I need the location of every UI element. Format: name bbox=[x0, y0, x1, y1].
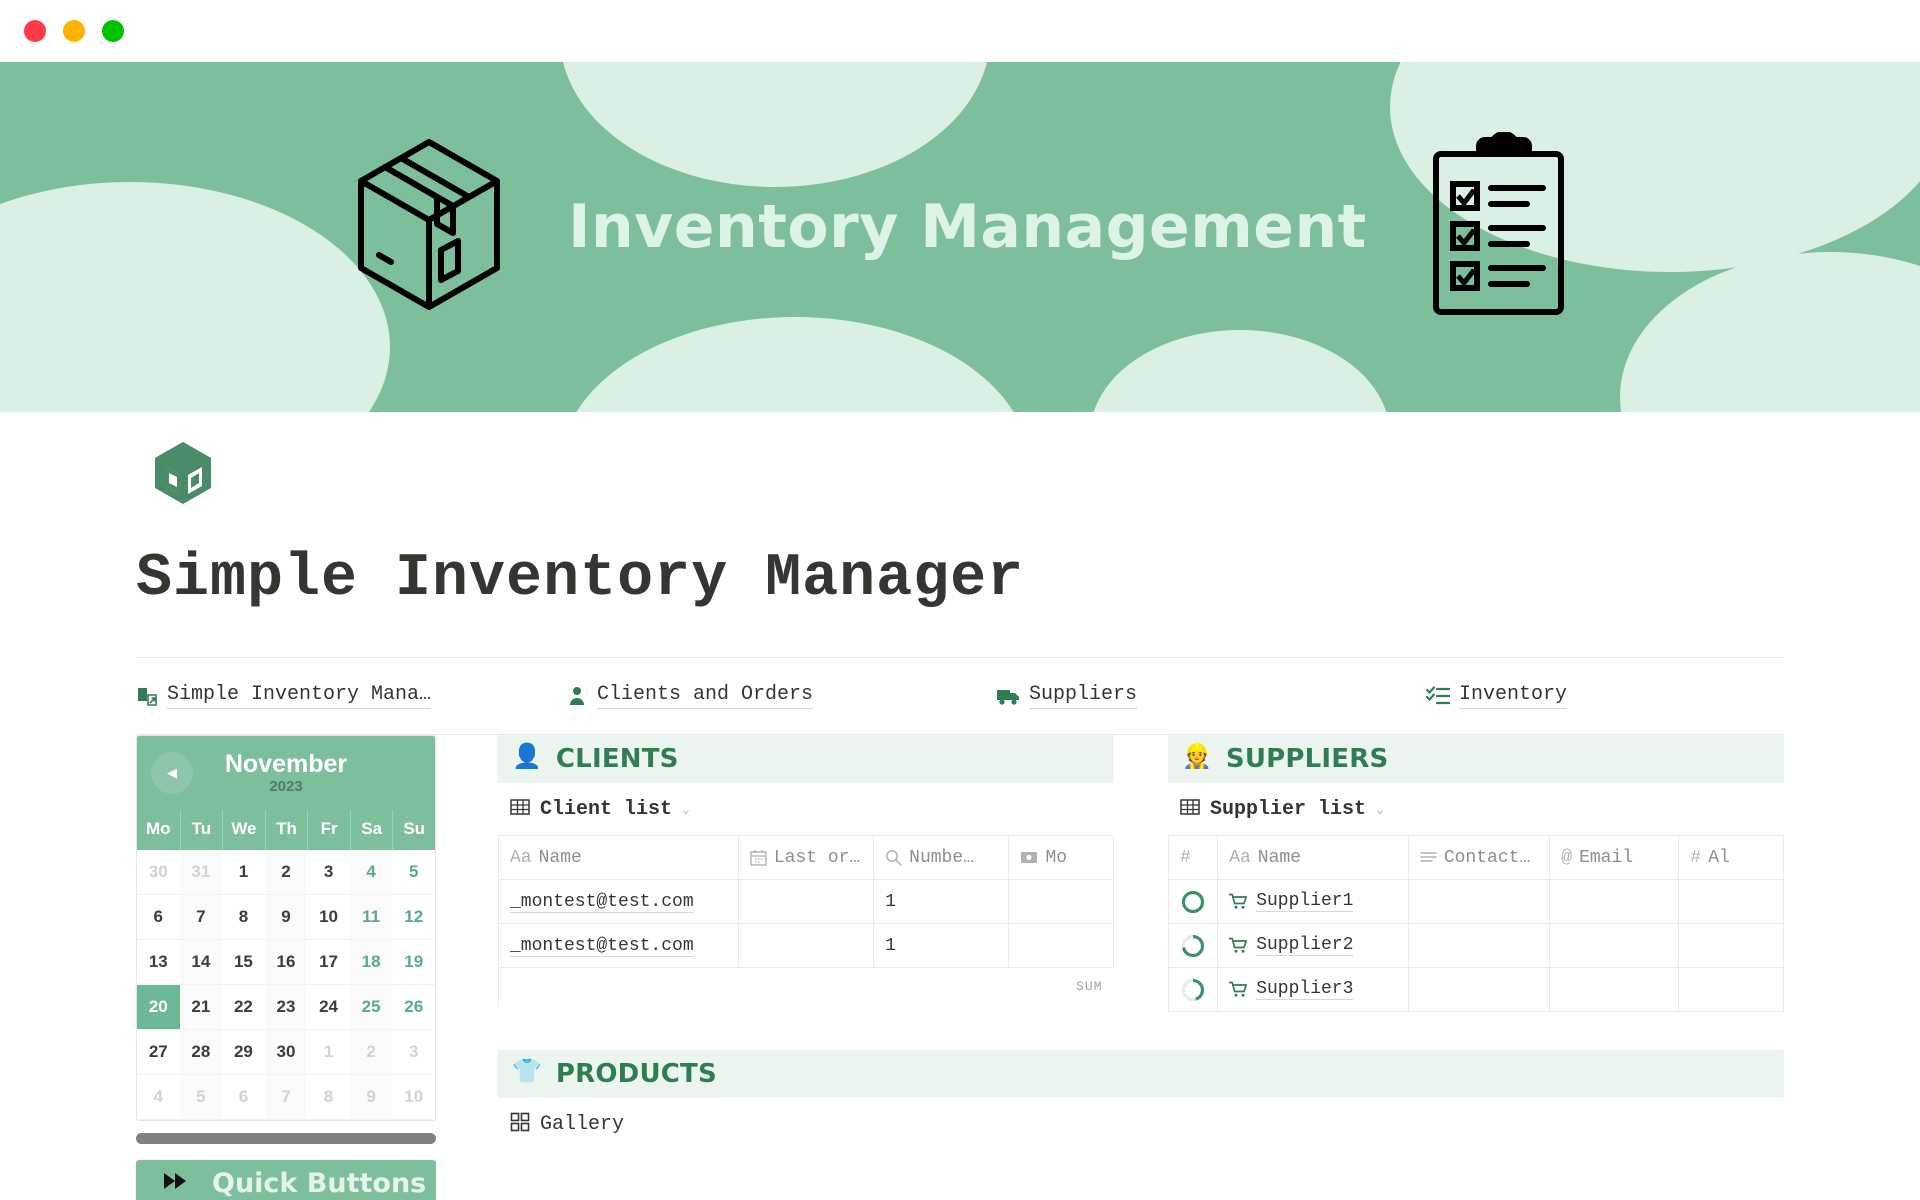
gallery-grid-icon bbox=[510, 1112, 530, 1137]
calendar-day[interactable]: 6 bbox=[137, 895, 180, 940]
calendar-weekday: Mo bbox=[137, 810, 180, 850]
window-minimize-button[interactable] bbox=[63, 20, 85, 42]
calendar-day[interactable]: 29 bbox=[222, 1030, 265, 1075]
calendar-day[interactable]: 26 bbox=[392, 985, 435, 1030]
window-maximize-button[interactable] bbox=[102, 20, 124, 42]
calendar-weekday: Tu bbox=[180, 810, 223, 850]
supplier-progress-cell[interactable] bbox=[1169, 968, 1218, 1012]
calendar-day-today[interactable]: 20 bbox=[137, 985, 180, 1030]
table-row[interactable]: Supplier1 bbox=[1169, 880, 1784, 924]
supplier-al-cell[interactable] bbox=[1679, 968, 1784, 1012]
calendar-day[interactable]: 15 bbox=[222, 940, 265, 985]
fast-forward-icon bbox=[162, 1170, 192, 1197]
client-last-order-cell[interactable] bbox=[738, 924, 873, 968]
suppliers-col-contact[interactable]: Contact… bbox=[1408, 836, 1549, 880]
supplier-contact-cell[interactable] bbox=[1408, 880, 1549, 924]
calendar-day[interactable]: 3 bbox=[392, 1030, 435, 1075]
supplier-name-cell[interactable]: Supplier3 bbox=[1218, 968, 1409, 1012]
clipboard-checklist-icon bbox=[1431, 132, 1566, 322]
chevron-down-icon[interactable]: ⌄ bbox=[1376, 802, 1384, 817]
shopping-cart-icon bbox=[1229, 893, 1248, 910]
table-view-icon bbox=[1180, 797, 1200, 822]
calendar-day[interactable]: 24 bbox=[307, 985, 350, 1030]
suppliers-heading: SUPPLIERS bbox=[1226, 744, 1389, 774]
calendar-day[interactable]: 8 bbox=[222, 895, 265, 940]
suppliers-col-name[interactable]: Aa Name bbox=[1218, 836, 1409, 880]
calendar-icon bbox=[750, 849, 767, 866]
calendar-weekday: Sa bbox=[350, 810, 393, 850]
supplier-email-cell[interactable] bbox=[1550, 968, 1679, 1012]
calendar-weekday: We bbox=[222, 810, 265, 850]
calendar-day[interactable]: 4 bbox=[137, 1075, 180, 1120]
worker-emoji-icon: 👷 bbox=[1182, 747, 1212, 771]
package-box-icon bbox=[354, 137, 504, 317]
aa-text-icon: Aa bbox=[510, 848, 532, 868]
page-link-icon bbox=[136, 685, 158, 707]
calendar-day[interactable]: 19 bbox=[392, 940, 435, 985]
suppliers-col-email[interactable]: @ Email bbox=[1550, 836, 1679, 880]
supplier-al-cell[interactable] bbox=[1679, 880, 1784, 924]
calendar-day[interactable]: 14 bbox=[180, 940, 223, 985]
page-cover-banner: Inventory Management bbox=[0, 62, 1920, 412]
calendar-day[interactable]: 18 bbox=[350, 940, 393, 985]
calendar-day[interactable]: 11 bbox=[350, 895, 393, 940]
tab-label: Inventory bbox=[1459, 683, 1567, 709]
supplier-email-cell[interactable] bbox=[1550, 924, 1679, 968]
table-row[interactable]: Supplier3 bbox=[1169, 968, 1784, 1012]
hash-icon: # bbox=[1180, 848, 1191, 868]
calendar-day[interactable]: 2 bbox=[350, 1030, 393, 1075]
calendar-day[interactable]: 10 bbox=[392, 1075, 435, 1120]
calendar-grid[interactable]: 3031123456789101112131415161718192021222… bbox=[137, 850, 435, 1120]
tab-inventory[interactable]: Inventory bbox=[1426, 683, 1567, 709]
clients-table: Aa Name Last ord… bbox=[498, 835, 1114, 1006]
products-panel: 👕 PRODUCTS Gallery bbox=[498, 1050, 1784, 1150]
supplier-contact-cell[interactable] bbox=[1408, 924, 1549, 968]
calendar-day[interactable]: 1 bbox=[222, 850, 265, 895]
calendar-day[interactable]: 9 bbox=[350, 1075, 393, 1120]
clients-col-money[interactable]: Mo bbox=[1009, 836, 1114, 880]
calendar-day[interactable]: 23 bbox=[265, 985, 308, 1030]
person-emoji-icon: 👤 bbox=[512, 747, 542, 771]
clients-panel: 👤 CLIENTS Client list ⌄ bbox=[498, 735, 1114, 1012]
clients-heading: CLIENTS bbox=[556, 744, 679, 774]
products-panel-header: 👕 PRODUCTS bbox=[498, 1050, 1784, 1098]
tab-label: Suppliers bbox=[1029, 683, 1137, 709]
client-number-cell[interactable]: 1 bbox=[874, 924, 1009, 968]
suppliers-table-header-row: # Aa Name bbox=[1169, 836, 1784, 880]
calendar-weekday: Th bbox=[265, 810, 308, 850]
suppliers-col-al[interactable]: # Al bbox=[1679, 836, 1784, 880]
client-name-cell[interactable]: _montest@test.com bbox=[499, 880, 739, 924]
calendar-day[interactable]: 10 bbox=[307, 895, 350, 940]
products-heading: PRODUCTS bbox=[556, 1059, 717, 1089]
calendar-day[interactable]: 16 bbox=[265, 940, 308, 985]
calendar-weekday-header: Mo Tu We Th Fr Sa Su bbox=[137, 810, 435, 850]
calendar-day[interactable]: 7 bbox=[265, 1075, 308, 1120]
calendar-day[interactable]: 3 bbox=[307, 850, 350, 895]
calendar-header: ◀ November 2023 bbox=[137, 736, 435, 810]
client-money-cell[interactable] bbox=[1009, 924, 1114, 968]
shirt-emoji-icon: 👕 bbox=[512, 1062, 542, 1086]
window-close-button[interactable] bbox=[24, 20, 46, 42]
supplier-progress-cell[interactable] bbox=[1169, 924, 1218, 968]
clients-col-name[interactable]: Aa Name bbox=[499, 836, 739, 880]
tab-label: Simple Inventory Mana… bbox=[167, 683, 431, 709]
calendar-day[interactable]: 31 bbox=[180, 850, 223, 895]
supplier-contact-cell[interactable] bbox=[1408, 968, 1549, 1012]
client-name-cell[interactable]: _montest@test.com bbox=[499, 924, 739, 968]
calendar-day[interactable]: 22 bbox=[222, 985, 265, 1030]
calendar-day[interactable]: 9 bbox=[265, 895, 308, 940]
hash-icon: # bbox=[1690, 848, 1701, 868]
tab-simple-inventory-manager[interactable]: Simple Inventory Mana… bbox=[136, 683, 566, 709]
table-row[interactable]: _montest@test.com1 bbox=[499, 924, 1114, 968]
calendar-day[interactable]: 28 bbox=[180, 1030, 223, 1075]
at-icon: @ bbox=[1561, 848, 1572, 868]
page-title: Simple Inventory Manager bbox=[136, 545, 1920, 613]
calendar-day[interactable]: 25 bbox=[350, 985, 393, 1030]
suppliers-panel: 👷 SUPPLIERS Supplier list ⌄ bbox=[1168, 735, 1784, 1012]
client-number-cell[interactable]: 1 bbox=[874, 880, 1009, 924]
calendar-day[interactable]: 8 bbox=[307, 1075, 350, 1120]
calendar-weekday: Fr bbox=[307, 810, 350, 850]
supplier-name-cell[interactable]: Supplier2 bbox=[1218, 924, 1409, 968]
shopping-cart-icon bbox=[1229, 937, 1248, 954]
suppliers-col-index[interactable]: # bbox=[1169, 836, 1218, 880]
calendar-day[interactable]: 5 bbox=[180, 1075, 223, 1120]
calendar-widget[interactable]: ◀ November 2023 Mo Tu We Th Fr Sa Su 303… bbox=[136, 735, 436, 1121]
calendar-day[interactable]: 1 bbox=[307, 1030, 350, 1075]
checklist-icon bbox=[1426, 685, 1450, 707]
suppliers-view-selector[interactable]: Supplier list ⌄ bbox=[1168, 783, 1784, 835]
calendar-day[interactable]: 6 bbox=[222, 1075, 265, 1120]
clients-sum-row: SUM bbox=[499, 968, 1114, 1006]
money-icon bbox=[1020, 849, 1038, 866]
calendar-day[interactable]: 13 bbox=[137, 940, 180, 985]
supplier-name-label: Supplier1 bbox=[1256, 891, 1353, 912]
products-view-label: Gallery bbox=[540, 1113, 624, 1136]
calendar-day[interactable]: 7 bbox=[180, 895, 223, 940]
calendar-day[interactable]: 27 bbox=[137, 1030, 180, 1075]
tab-clients-and-orders[interactable]: Clients and Orders bbox=[566, 683, 996, 709]
clients-sum-label: SUM bbox=[1009, 968, 1114, 1006]
magnifier-icon bbox=[885, 849, 902, 866]
products-view-selector[interactable]: Gallery bbox=[498, 1098, 1784, 1150]
calendar-day[interactable]: 12 bbox=[392, 895, 435, 940]
table-row[interactable]: Supplier2 bbox=[1169, 924, 1784, 968]
supplier-email-cell[interactable] bbox=[1550, 880, 1679, 924]
aa-text-icon: Aa bbox=[1229, 848, 1251, 868]
calendar-day[interactable]: 17 bbox=[307, 940, 350, 985]
supplier-name-label: Supplier3 bbox=[1256, 979, 1353, 1000]
person-icon bbox=[566, 685, 588, 707]
cube-logo-icon bbox=[152, 440, 1920, 511]
supplier-name-cell[interactable]: Supplier1 bbox=[1218, 880, 1409, 924]
calendar-day[interactable]: 30 bbox=[137, 850, 180, 895]
calendar-horizontal-scrollbar[interactable] bbox=[136, 1133, 436, 1144]
truck-icon bbox=[996, 685, 1020, 707]
chevron-down-icon[interactable]: ⌄ bbox=[682, 802, 690, 817]
shopping-cart-icon bbox=[1229, 981, 1248, 998]
clients-table-header-row: Aa Name Last ord… bbox=[499, 836, 1114, 880]
tab-label: Clients and Orders bbox=[597, 683, 813, 709]
suppliers-table: # Aa Name bbox=[1168, 835, 1784, 1012]
calendar-weekday: Su bbox=[392, 810, 435, 850]
suppliers-view-label: Supplier list bbox=[1210, 798, 1366, 821]
calendar-day[interactable]: 21 bbox=[180, 985, 223, 1030]
clients-col-number[interactable]: Numbe… bbox=[874, 836, 1009, 880]
page-tabs: Simple Inventory Mana… Clients and Order… bbox=[136, 658, 1784, 734]
suppliers-panel-header: 👷 SUPPLIERS bbox=[1168, 735, 1784, 783]
supplier-progress-cell[interactable] bbox=[1169, 880, 1218, 924]
client-money-cell[interactable] bbox=[1009, 880, 1114, 924]
banner-title: Inventory Management bbox=[568, 192, 1367, 262]
quick-buttons-banner[interactable]: Quick Buttons bbox=[136, 1160, 436, 1200]
clients-view-selector[interactable]: Client list ⌄ bbox=[498, 783, 1114, 835]
clients-view-label: Client list bbox=[540, 798, 672, 821]
supplier-al-cell[interactable] bbox=[1679, 924, 1784, 968]
client-last-order-cell[interactable] bbox=[738, 880, 873, 924]
clients-col-last-order[interactable]: Last ord… bbox=[738, 836, 873, 880]
table-view-icon bbox=[510, 797, 530, 822]
calendar-day[interactable]: 30 bbox=[265, 1030, 308, 1075]
text-lines-icon bbox=[1420, 851, 1437, 865]
clients-panel-header: 👤 CLIENTS bbox=[498, 735, 1114, 783]
calendar-day[interactable]: 5 bbox=[392, 850, 435, 895]
table-row[interactable]: _montest@test.com1 bbox=[499, 880, 1114, 924]
calendar-day[interactable]: 4 bbox=[350, 850, 393, 895]
calendar-day[interactable]: 2 bbox=[265, 850, 308, 895]
window-titlebar bbox=[0, 0, 1920, 62]
tab-suppliers[interactable]: Suppliers bbox=[996, 683, 1426, 709]
supplier-name-label: Supplier2 bbox=[1256, 935, 1353, 956]
quick-buttons-label: Quick Buttons bbox=[212, 1168, 426, 1199]
calendar-prev-button[interactable]: ◀ bbox=[151, 752, 193, 794]
